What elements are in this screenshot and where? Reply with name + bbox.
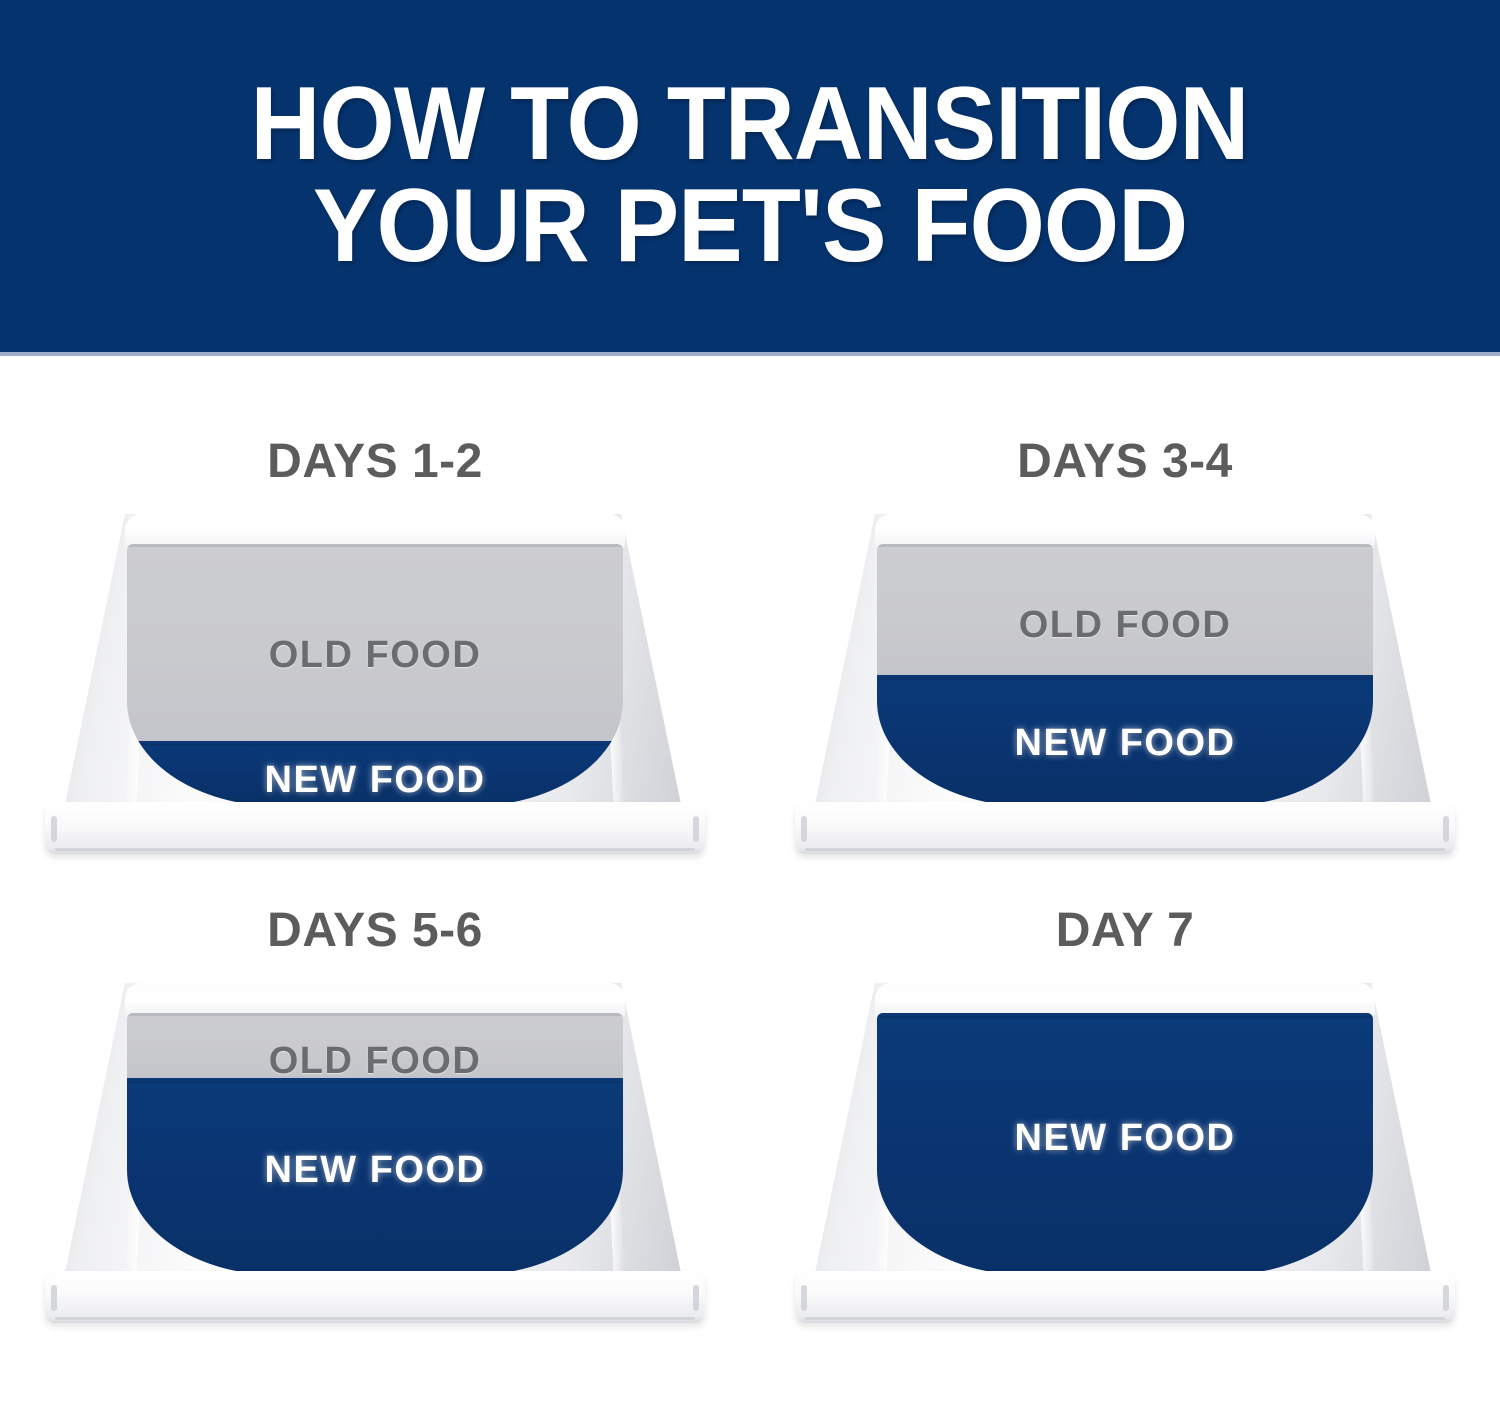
bowl-cavity: OLD FOOD NEW FOOD xyxy=(127,1013,623,1275)
panel-day-7: DAY 7 OLD FOOD NEW FOOD xyxy=(750,877,1500,1401)
new-food-label: NEW FOOD xyxy=(127,1149,623,1192)
bowl-base-foot-left xyxy=(51,1285,57,1311)
new-food-fill: NEW FOOD xyxy=(127,1078,623,1275)
new-food-fill: NEW FOOD xyxy=(877,1013,1373,1275)
panel-days-5-6: DAYS 5-6 OLD FOOD NEW FOOD xyxy=(0,877,750,1401)
bowl-base-foot-left xyxy=(51,816,57,842)
bowl-grid: DAYS 1-2 OLD FOOD NEW FOOD xyxy=(0,352,1500,1401)
food-bowl-days-1-2: OLD FOOD NEW FOOD xyxy=(45,514,705,859)
food-bowl-day-7: OLD FOOD NEW FOOD xyxy=(795,983,1455,1328)
panel-title-days-3-4: DAYS 3-4 xyxy=(1017,434,1233,489)
food-bowl-days-3-4: OLD FOOD NEW FOOD xyxy=(795,514,1455,859)
old-food-fill: OLD FOOD xyxy=(127,1013,623,1079)
bowl-rim xyxy=(875,983,1375,1017)
food-bowl-days-5-6: OLD FOOD NEW FOOD xyxy=(45,983,705,1328)
new-food-fill: NEW FOOD xyxy=(127,741,623,807)
panel-days-1-2: DAYS 1-2 OLD FOOD NEW FOOD xyxy=(0,352,750,877)
bowl-base xyxy=(795,1271,1455,1323)
bowl-cavity: OLD FOOD NEW FOOD xyxy=(877,544,1373,806)
panel-title-days-5-6: DAYS 5-6 xyxy=(267,903,483,958)
bowl-base xyxy=(45,802,705,854)
new-food-fill: NEW FOOD xyxy=(877,675,1373,806)
bowl-base xyxy=(45,1271,705,1323)
panel-title-days-1-2: DAYS 1-2 xyxy=(267,434,483,489)
new-food-label: NEW FOOD xyxy=(127,759,623,802)
bowl-base xyxy=(795,802,1455,854)
new-food-label: NEW FOOD xyxy=(877,1117,1373,1160)
panel-days-3-4: DAYS 3-4 OLD FOOD NEW FOOD xyxy=(750,352,1500,877)
bowl-base-foot-right xyxy=(693,816,699,842)
panel-title-day-7: DAY 7 xyxy=(1056,903,1195,958)
infographic-page: HOW TO TRANSITION YOUR PET'S FOOD DAYS 1… xyxy=(0,0,1500,1401)
bowl-base-foot-right xyxy=(693,1285,699,1311)
bowl-cavity: OLD FOOD NEW FOOD xyxy=(127,544,623,806)
old-food-label: OLD FOOD xyxy=(127,1040,623,1083)
old-food-fill: OLD FOOD xyxy=(877,544,1373,675)
page-title-line-1: HOW TO TRANSITION xyxy=(251,74,1249,176)
bowl-base-foot-right xyxy=(1443,1285,1449,1311)
page-title-line-2: YOUR PET'S FOOD xyxy=(313,176,1187,278)
header-banner: HOW TO TRANSITION YOUR PET'S FOOD xyxy=(0,0,1500,352)
bowl-cavity: OLD FOOD NEW FOOD xyxy=(877,1013,1373,1275)
old-food-label: OLD FOOD xyxy=(127,634,623,677)
old-food-fill: OLD FOOD xyxy=(127,544,623,741)
bowl-rim xyxy=(125,514,625,548)
old-food-label: OLD FOOD xyxy=(877,604,1373,647)
bowl-rim xyxy=(875,514,1375,548)
bowl-base-foot-left xyxy=(801,1285,807,1311)
bowl-base-foot-left xyxy=(801,816,807,842)
bowl-base-foot-right xyxy=(1443,816,1449,842)
new-food-label: NEW FOOD xyxy=(877,722,1373,765)
bowl-rim xyxy=(125,983,625,1017)
